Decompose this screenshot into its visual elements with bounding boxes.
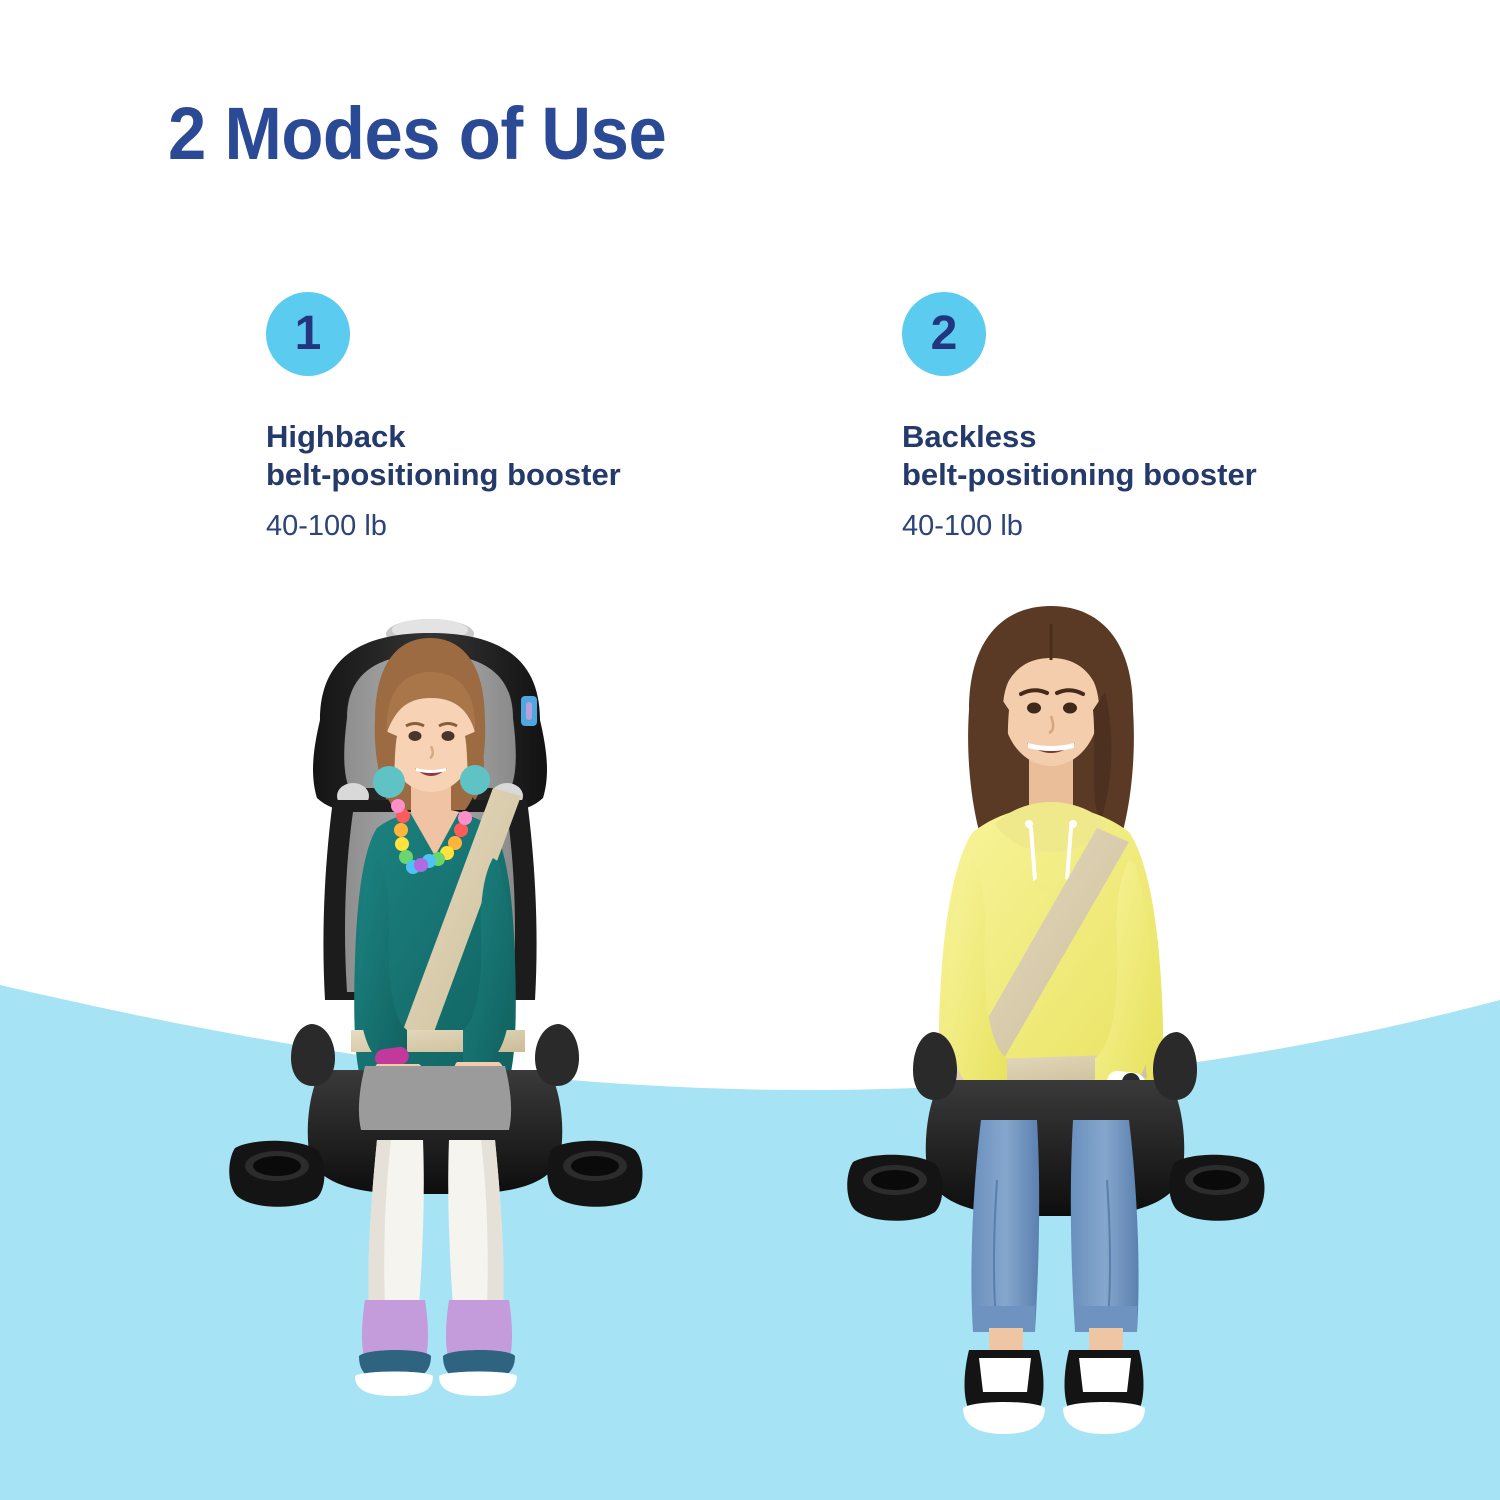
mode-heading-2: Backless belt-positioning booster	[902, 418, 1257, 494]
mode-weight-range-1: 40-100 lb	[266, 508, 621, 544]
mode-badge-2: 2	[902, 292, 986, 376]
mode-column-1: 1 Highback belt-positioning booster 40-1…	[266, 292, 621, 544]
mode-weight-range-2: 40-100 lb	[902, 508, 1257, 544]
teen-sneaker-right	[1063, 1350, 1145, 1434]
mode-column-2: 2 Backless belt-positioning booster 40-1…	[902, 292, 1257, 544]
mode-heading-1: Highback belt-positioning booster	[266, 418, 621, 494]
child-boot-right	[439, 1300, 517, 1396]
hair-pompom-left	[373, 766, 405, 798]
cup-holder-left	[847, 1155, 942, 1221]
teen-sneaker-left	[963, 1350, 1045, 1434]
page-title: 2 Modes of Use	[168, 94, 666, 174]
cup-holder-right	[547, 1141, 642, 1207]
photo-backless-booster	[845, 580, 1265, 1450]
cup-holder-left	[229, 1141, 324, 1207]
child-boot-left	[355, 1300, 433, 1396]
photo-highback-booster	[225, 600, 645, 1430]
cup-holder-right	[1169, 1155, 1264, 1221]
mode-badge-1: 1	[266, 292, 350, 376]
hair-pompom-right	[460, 765, 490, 795]
infographic-stage: 2 Modes of Use 1 Highback belt-positioni…	[0, 0, 1500, 1500]
